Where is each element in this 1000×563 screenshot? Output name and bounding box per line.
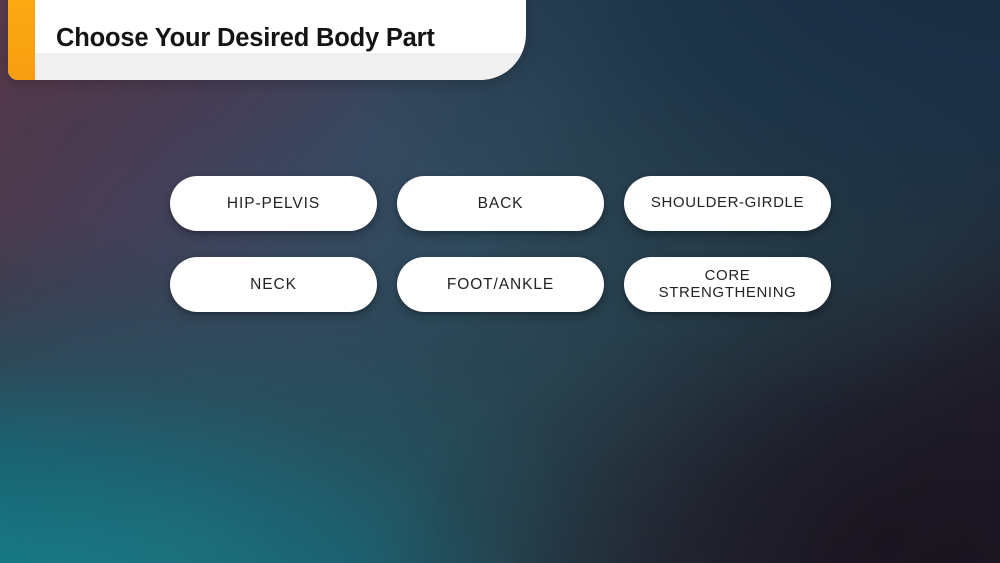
body-part-button-foot-ankle[interactable]: FOOT/ANKLE — [397, 257, 604, 312]
body-part-button-core-strengthening[interactable]: CORE STRENGTHENING — [624, 257, 831, 312]
body-part-button-grid: HIP-PELVIS BACK SHOULDER-GIRDLE NECK FOO… — [170, 176, 831, 312]
page-title: Choose Your Desired Body Part — [56, 0, 435, 80]
header-card: Choose Your Desired Body Part — [8, 0, 526, 80]
body-part-button-hip-pelvis[interactable]: HIP-PELVIS — [170, 176, 377, 231]
body-part-button-shoulder-girdle[interactable]: SHOULDER-GIRDLE — [624, 176, 831, 231]
body-part-button-back[interactable]: BACK — [397, 176, 604, 231]
slide-canvas: Choose Your Desired Body Part HIP-PELVIS… — [0, 0, 1000, 563]
header-accent-bar — [8, 0, 35, 80]
body-part-button-neck[interactable]: NECK — [170, 257, 377, 312]
